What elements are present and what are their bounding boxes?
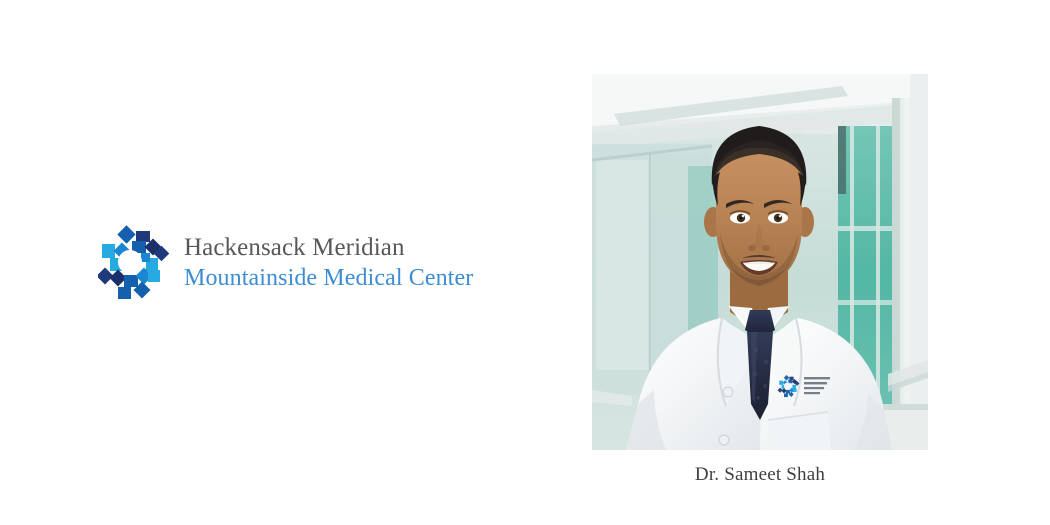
logo-line-primary: Hackensack Meridian [184, 235, 473, 260]
brand-logo: Hackensack Meridian Mountainside Medical… [98, 222, 473, 302]
doctor-portrait-photo [592, 74, 928, 450]
hackensack-meridian-logo-mark [98, 222, 170, 302]
logo-wordmark: Hackensack Meridian Mountainside Medical… [184, 235, 473, 290]
slide-canvas: Hackensack Meridian Mountainside Medical… [0, 0, 1050, 525]
photo-caption: Dr. Sameet Shah [592, 464, 928, 486]
logo-line-secondary: Mountainside Medical Center [184, 266, 473, 290]
doctor-photo-block: Dr. Sameet Shah [592, 74, 928, 486]
